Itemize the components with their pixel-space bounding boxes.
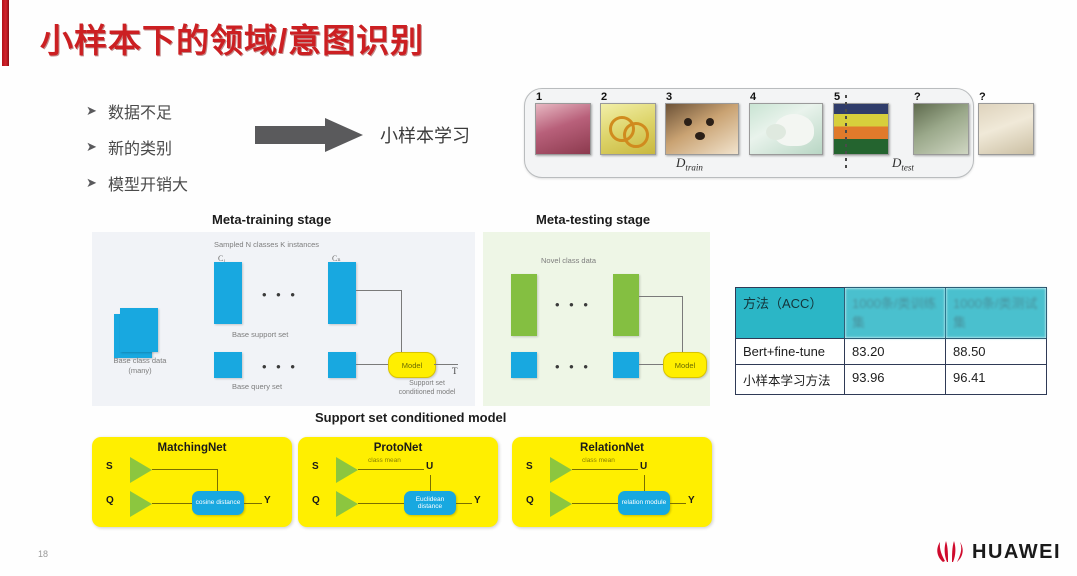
prototype-node-label: U <box>640 461 647 472</box>
model-to-output-wire <box>434 364 458 365</box>
train-output-label: T <box>452 366 458 376</box>
meta-testing-panel: Novel class data • • • • • • Model <box>483 232 710 406</box>
base-class-data-label: Base class data <box>100 356 180 365</box>
support-encoder-icon <box>130 457 152 483</box>
novel-support-last <box>613 274 639 336</box>
train-photo-5 <box>833 103 889 155</box>
support-input-label: S <box>526 461 533 472</box>
table-header-method: 方法（ACC） <box>736 288 845 339</box>
bullet-list: ➤ 数据不足 ➤ 新的类别 ➤ 模型开销大 <box>86 93 266 201</box>
query-wire <box>358 503 404 504</box>
novel-query-ellipsis: • • • <box>555 360 591 373</box>
cell-value-col2: 93.96 <box>845 365 946 395</box>
meta-training-heading: Meta-training stage <box>212 212 331 227</box>
base-query-set-label: Base query set <box>232 382 282 391</box>
d-test-label: Dtest <box>892 155 914 173</box>
base-support-class-first <box>214 262 242 324</box>
bullet-arrow-icon: ➤ <box>86 139 108 155</box>
d-train-label: Dtrain <box>676 155 703 173</box>
test-photo-1 <box>913 103 969 155</box>
support-set-conditioned-model-heading: Support set conditioned model <box>315 410 506 425</box>
cell-method: 小样本学习方法 <box>736 365 845 395</box>
query-encoder-icon <box>550 491 572 517</box>
prototype-node-label: U <box>426 461 433 472</box>
train-photo-3 <box>665 103 739 155</box>
train-photo-2 <box>600 103 656 155</box>
photo-number: 1 <box>536 91 542 103</box>
few-shot-learning-label: 小样本学习 <box>380 122 470 148</box>
query-wire <box>152 503 192 504</box>
title-accent-bar <box>2 0 9 66</box>
right-arrow-icon <box>255 118 365 152</box>
novel-query-first <box>511 352 537 378</box>
list-item: ➤ 模型开销大 <box>86 165 266 201</box>
processing-module: cosine distance <box>192 491 244 515</box>
train-photo-1 <box>535 103 591 155</box>
method-title: MatchingNet <box>92 442 292 454</box>
arrow-head <box>325 118 363 152</box>
cell-value-col3: 96.41 <box>946 365 1047 395</box>
cell-method: Bert+fine-tune <box>736 339 845 365</box>
method-title: ProtoNet <box>298 442 498 454</box>
support-wire <box>572 469 638 470</box>
page-title: 小样本下的领域/意图识别 <box>40 14 424 62</box>
query-input-label: Q <box>106 495 114 506</box>
bullet-label: 模型开销大 <box>108 171 188 195</box>
base-query-first <box>214 352 242 378</box>
support-input-label: S <box>312 461 319 472</box>
results-table: 方法（ACC） 1000条/类训练集 1000条/类测试集 Bert+fine-… <box>735 287 1047 395</box>
support-to-model-wire-v <box>401 290 402 354</box>
list-item: ➤ 新的类别 <box>86 129 266 165</box>
support-encoder-icon <box>336 457 358 483</box>
page-number: 18 <box>38 549 48 559</box>
novel-support-wire-h <box>639 296 683 297</box>
photo-number: 3 <box>666 91 672 103</box>
slide-canvas: 小样本下的领域/意图识别 ➤ 数据不足 ➤ 新的类别 ➤ 模型开销大 小样本学习… <box>0 0 1077 576</box>
output-wire <box>456 503 472 504</box>
huawei-wordmark: HUAWEI <box>972 541 1061 564</box>
query-ellipsis: • • • <box>262 360 298 373</box>
novel-query-last <box>613 352 639 378</box>
base-support-set-label: Base support set <box>232 330 288 339</box>
base-data-stack-front <box>120 308 158 352</box>
sampled-classes-label: Sampled N classes K instances <box>214 240 319 249</box>
arrow-shaft <box>255 126 327 144</box>
test-photo-2 <box>978 103 1034 155</box>
photo-number: 5 <box>834 91 840 103</box>
train-photo-4 <box>749 103 823 155</box>
ssc-caption-line1: Support set <box>392 380 462 387</box>
method-card-relationnet: RelationNet S class mean U Q relation mo… <box>512 437 712 527</box>
ssc-caption-line2: conditioned model <box>392 389 462 396</box>
train-test-divider <box>845 95 847 169</box>
support-input-label: S <box>106 461 113 472</box>
novel-class-data-label: Novel class data <box>541 256 596 265</box>
huawei-flower-icon <box>935 540 965 564</box>
table-header-col2: 1000条/类训练集 <box>845 288 946 339</box>
meta-testing-heading: Meta-testing stage <box>536 212 650 227</box>
photo-number: ? <box>914 91 921 103</box>
novel-support-ellipsis: • • • <box>555 298 591 311</box>
photo-number: 2 <box>601 91 607 103</box>
table-row: Bert+fine-tune 83.20 88.50 <box>736 339 1047 365</box>
class-mean-label: class mean <box>582 457 615 464</box>
output-wire <box>244 503 262 504</box>
novel-query-wire <box>639 364 665 365</box>
support-to-model-wire-h <box>356 290 402 291</box>
query-input-label: Q <box>526 495 534 506</box>
processing-module: Euclidean distance <box>404 491 456 515</box>
output-label: Y <box>264 495 271 506</box>
class-mean-label: class mean <box>368 457 401 464</box>
table-header-col3: 1000条/类测试集 <box>946 288 1047 339</box>
query-encoder-icon <box>336 491 358 517</box>
bullet-arrow-icon: ➤ <box>86 175 108 191</box>
photo-number: ? <box>979 91 986 103</box>
support-wire <box>358 469 424 470</box>
support-encoder-icon <box>550 457 572 483</box>
base-class-data-sublabel: (many) <box>100 366 180 375</box>
novel-support-wire-v <box>682 296 683 354</box>
huawei-logo: HUAWEI <box>935 540 1061 564</box>
bullet-label: 数据不足 <box>108 99 172 123</box>
bullet-label: 新的类别 <box>108 135 172 159</box>
query-input-label: Q <box>312 495 320 506</box>
photo-number: 4 <box>750 91 756 103</box>
bullet-arrow-icon: ➤ <box>86 103 108 119</box>
table-header-row: 方法（ACC） 1000条/类训练集 1000条/类测试集 <box>736 288 1047 339</box>
support-ellipsis: • • • <box>262 288 298 301</box>
model-node: Model <box>388 352 436 378</box>
query-wire <box>572 503 618 504</box>
meta-training-panel: Sampled N classes K instances C₁ Cₙ Base… <box>92 232 475 406</box>
output-wire <box>670 503 686 504</box>
table-row: 小样本学习方法 93.96 96.41 <box>736 365 1047 395</box>
method-card-matchingnet: MatchingNet S Q cosine distance Y <box>92 437 292 527</box>
query-encoder-icon <box>130 491 152 517</box>
output-label: Y <box>688 495 695 506</box>
base-query-last <box>328 352 356 378</box>
test-model-node: Model <box>663 352 707 378</box>
cell-value-col3: 88.50 <box>946 339 1047 365</box>
base-support-class-last <box>328 262 356 324</box>
support-wire <box>152 469 218 470</box>
method-title: RelationNet <box>512 442 712 454</box>
processing-module: relation module <box>618 491 670 515</box>
output-label: Y <box>474 495 481 506</box>
query-to-model-wire <box>356 364 390 365</box>
novel-support-first <box>511 274 537 336</box>
list-item: ➤ 数据不足 <box>86 93 266 129</box>
method-card-protonet: ProtoNet S class mean U Q Euclidean dist… <box>298 437 498 527</box>
cell-value-col2: 83.20 <box>845 339 946 365</box>
